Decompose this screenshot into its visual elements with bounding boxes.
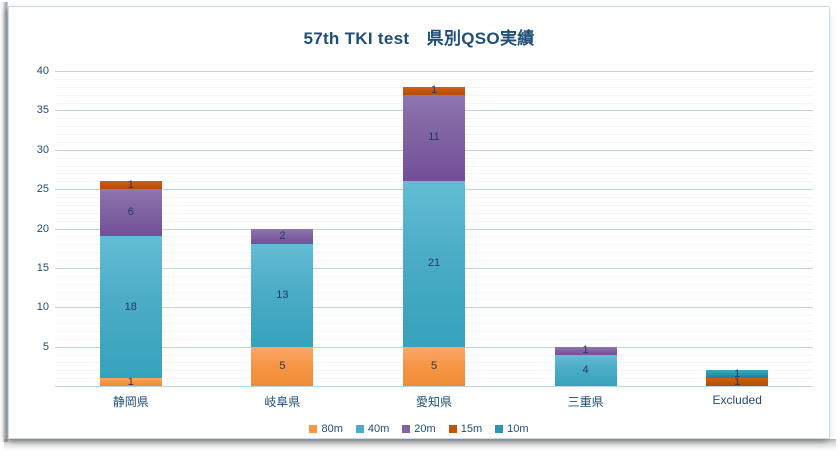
- bar-segment-value-label: 6: [128, 207, 134, 218]
- bar-segment-80m[interactable]: 1: [100, 378, 162, 386]
- legend-item-15m[interactable]: 15m: [449, 423, 482, 435]
- legend-label: 20m: [414, 423, 435, 435]
- bar-stack[interactable]: 11861: [100, 181, 162, 386]
- chart-container: 57th TKI test 県別QSO実績 510152025303540118…: [8, 6, 830, 439]
- bar-segment-value-label: 1: [583, 345, 589, 356]
- legend-swatch-icon: [309, 425, 317, 433]
- y-axis-tick-label: 20: [37, 223, 49, 235]
- x-axis-tick-label: Excluded: [661, 393, 813, 407]
- x-axis-tick-labels: 静岡県岐阜県愛知県三重県Excluded: [55, 393, 813, 413]
- chart-title: 57th TKI test 県別QSO実績: [9, 24, 829, 49]
- legend-swatch-icon: [495, 425, 503, 433]
- bar-stack[interactable]: 11: [706, 370, 768, 386]
- gridline-minor: [55, 79, 813, 80]
- legend-swatch-icon: [449, 425, 457, 433]
- bar-stack[interactable]: 41: [555, 347, 617, 386]
- bar-segment-40m[interactable]: 18: [100, 236, 162, 378]
- bar-segment-40m[interactable]: 13: [251, 244, 313, 346]
- bar-segment-15m[interactable]: 1: [403, 87, 465, 95]
- plot-area: 5101520253035401186151325211114111: [55, 71, 813, 386]
- bar-segment-value-label: 1: [128, 180, 134, 191]
- bar-segment-value-label: 21: [428, 258, 440, 269]
- bar-segment-20m[interactable]: 1: [555, 347, 617, 355]
- x-axis-tick-label: 愛知県: [358, 393, 510, 410]
- bar-segment-value-label: 1: [734, 369, 740, 380]
- bar-segment-15m[interactable]: 1: [100, 181, 162, 189]
- legend-item-10m[interactable]: 10m: [495, 423, 528, 435]
- legend-label: 15m: [461, 423, 482, 435]
- x-axis-line: [55, 386, 813, 387]
- legend-item-80m[interactable]: 80m: [309, 423, 342, 435]
- bar-segment-value-label: 18: [125, 302, 137, 313]
- bar-segment-20m[interactable]: 2: [251, 229, 313, 245]
- gridline-major: [55, 71, 813, 72]
- bar-segment-80m[interactable]: 5: [403, 347, 465, 386]
- legend-label: 10m: [507, 423, 528, 435]
- legend-swatch-icon: [356, 425, 364, 433]
- chart-legend: 80m40m20m15m10m: [9, 423, 829, 435]
- y-axis-tick-label: 40: [37, 65, 49, 77]
- y-axis-tick-label: 15: [37, 262, 49, 274]
- y-axis-tick-label: 30: [37, 144, 49, 156]
- bar-segment-value-label: 13: [276, 290, 288, 301]
- bar-stack[interactable]: 5132: [251, 229, 313, 387]
- bar-segment-value-label: 2: [279, 231, 285, 242]
- window-shadow-bottom: [4, 439, 836, 451]
- bar-segment-80m[interactable]: 5: [251, 347, 313, 386]
- bar-segment-10m[interactable]: 1: [706, 370, 768, 378]
- y-axis-tick-label: 10: [37, 301, 49, 313]
- y-axis-tick-label: 5: [43, 341, 49, 353]
- legend-label: 40m: [368, 423, 389, 435]
- y-axis-tick-label: 35: [37, 104, 49, 116]
- x-axis-tick-label: 岐阜県: [207, 393, 359, 410]
- y-axis-tick-label: 25: [37, 183, 49, 195]
- window-shadow-left: [0, 2, 8, 442]
- bar-segment-value-label: 11: [428, 132, 439, 143]
- legend-label: 80m: [321, 423, 342, 435]
- legend-swatch-icon: [402, 425, 410, 433]
- bar-segment-20m[interactable]: 11: [403, 95, 465, 182]
- bar-segment-40m[interactable]: 21: [403, 181, 465, 346]
- bar-segment-value-label: 5: [279, 361, 285, 372]
- bar-segment-value-label: 5: [431, 361, 437, 372]
- bar-segment-value-label: 4: [583, 365, 589, 376]
- bar-stack[interactable]: 521111: [403, 87, 465, 386]
- bar-segment-40m[interactable]: 4: [555, 355, 617, 387]
- legend-item-20m[interactable]: 20m: [402, 423, 435, 435]
- bar-segment-value-label: 1: [431, 85, 437, 96]
- bar-segment-20m[interactable]: 6: [100, 189, 162, 236]
- x-axis-tick-label: 三重県: [510, 393, 662, 410]
- legend-item-40m[interactable]: 40m: [356, 423, 389, 435]
- x-axis-tick-label: 静岡県: [55, 393, 207, 410]
